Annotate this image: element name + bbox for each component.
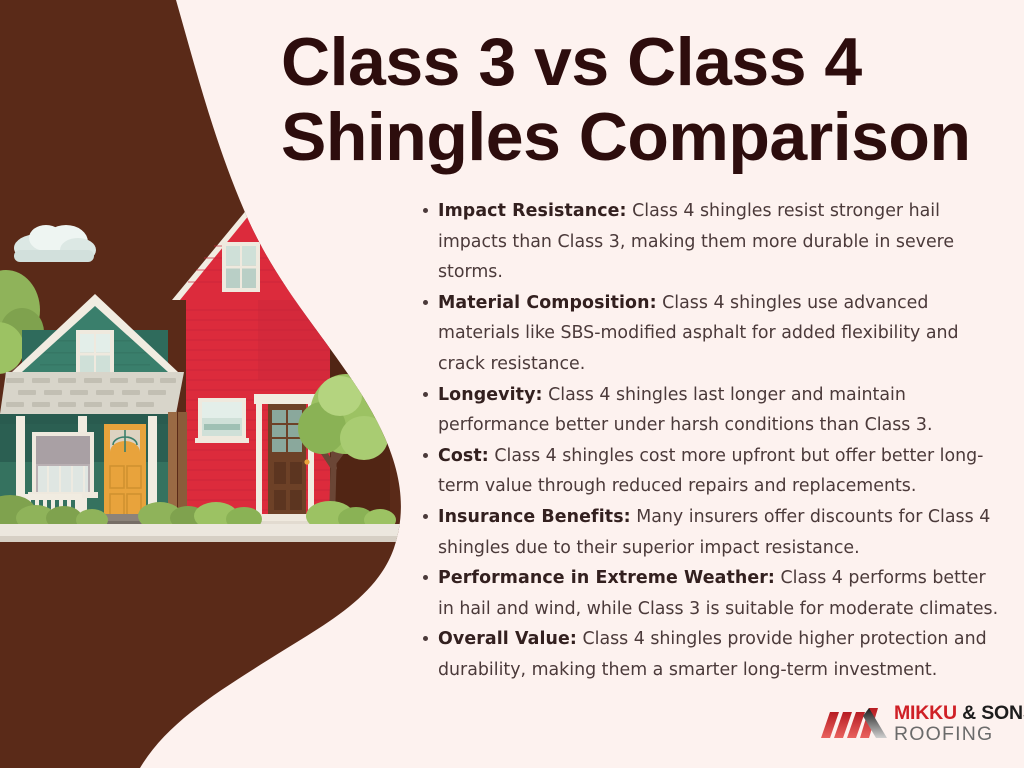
- title-line-1: Class 3 vs Class 4: [281, 25, 1001, 100]
- logo-brand-mikku: MIKKU: [894, 702, 957, 724]
- bullet-label: Longevity:: [438, 385, 543, 405]
- list-item: Overall Value: Class 4 shingles provide …: [418, 624, 1006, 685]
- bullet-label: Cost:: [438, 446, 489, 466]
- logo-brand-sons: & SONS: [962, 702, 1024, 724]
- logo-tagline: ROOFING: [894, 725, 1024, 745]
- logo-brand-line: MIKKU & SONS: [894, 704, 1024, 724]
- list-item: Cost: Class 4 shingles cost more upfront…: [418, 441, 1006, 502]
- chimney: [312, 232, 336, 292]
- list-item: Impact Resistance: Class 4 shingles resi…: [418, 196, 1006, 288]
- list-item: Longevity: Class 4 shingles last longer …: [418, 380, 1006, 441]
- poster-canvas: Class 3 vs Class 4 Shingles Comparison I…: [0, 0, 1024, 768]
- list-item: Material Composition: Class 4 shingles u…: [418, 288, 1006, 380]
- list-item: Insurance Benefits: Many insurers offer …: [418, 502, 1006, 563]
- comparison-bullet-list: Impact Resistance: Class 4 shingles resi…: [418, 196, 1006, 686]
- bullet-label: Performance in Extreme Weather:: [438, 568, 775, 588]
- bullet-label: Impact Resistance:: [438, 201, 627, 221]
- title-line-2: Shingles Comparison: [281, 100, 1001, 175]
- bullet-text: Class 4 shingles cost more upfront but o…: [438, 446, 983, 497]
- sidewalk: [0, 524, 430, 542]
- bullet-label: Insurance Benefits:: [438, 507, 631, 527]
- page-title: Class 3 vs Class 4 Shingles Comparison: [281, 25, 1001, 175]
- bullet-label: Overall Value:: [438, 629, 577, 649]
- brand-logo: MIKKU & SONS ROOFING: [821, 700, 1007, 748]
- roof-mark-icon: [821, 704, 887, 744]
- list-item: Performance in Extreme Weather: Class 4 …: [418, 563, 1006, 624]
- logo-text: MIKKU & SONS ROOFING: [894, 704, 1024, 745]
- bullet-label: Material Composition:: [438, 293, 657, 313]
